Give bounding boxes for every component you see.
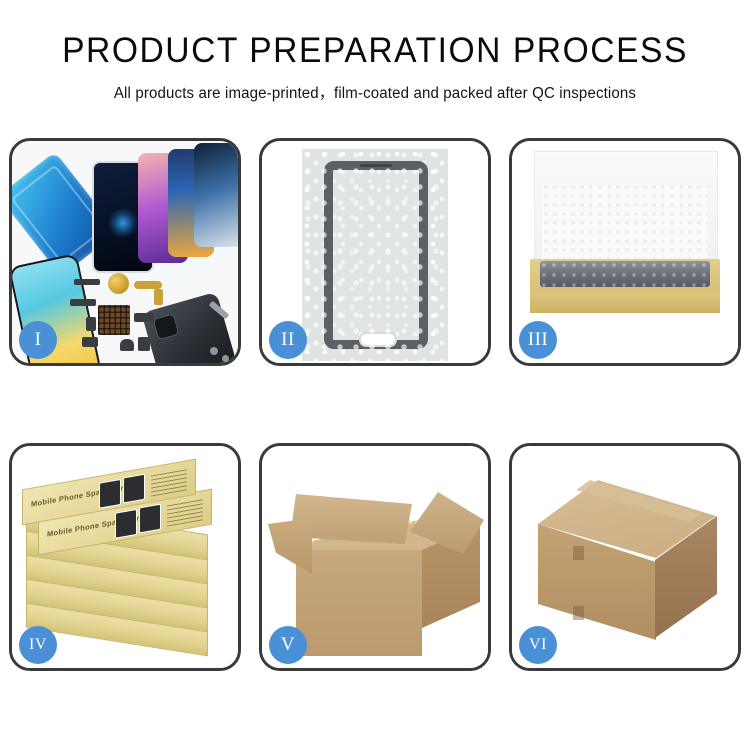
process-step-panel-2[interactable]: II <box>259 138 491 366</box>
step-badge-4: IV <box>19 626 57 664</box>
process-step-panel-1[interactable]: I <box>9 138 241 366</box>
process-step-panel-5[interactable]: V <box>259 443 491 671</box>
foam-liner-icon <box>542 183 708 261</box>
screw-icon-a <box>210 347 218 355</box>
small-part-icon-a <box>86 317 96 331</box>
packed-screen-icon <box>540 261 710 287</box>
lid-phone-image-1a <box>99 479 121 509</box>
process-step-panel-6[interactable]: VI <box>509 443 741 671</box>
process-step-panel-3[interactable]: III <box>509 138 741 366</box>
lid-spec-lines-1 <box>151 468 187 496</box>
flex-cable-icon-b <box>154 289 163 305</box>
page-header: PRODUCT PREPARATION PROCESS All products… <box>0 0 750 103</box>
page-title: PRODUCT PREPARATION PROCESS <box>15 33 735 68</box>
lid-phone-image-1b <box>123 474 145 504</box>
lid-spec-lines-2 <box>167 498 203 526</box>
lid-phone-image-2b <box>139 504 161 534</box>
coil-part-icon <box>108 273 129 294</box>
step-badge-1: I <box>19 321 57 359</box>
flex-cable-icon-a <box>134 281 162 289</box>
silver-phone-icon <box>194 143 238 247</box>
mailer-front-panel-icon <box>530 291 720 313</box>
flex-cable-icon-c <box>70 299 96 306</box>
step-badge-2: II <box>269 321 307 359</box>
lid-phone-image-2a <box>115 509 137 539</box>
carton-left-flap <box>268 518 312 574</box>
bubble-wrap-overlay <box>302 149 448 361</box>
screw-icon-b <box>222 355 229 362</box>
page-subtitle: All products are image-printed，film-coat… <box>11 81 739 103</box>
small-part-icon-c <box>120 339 134 351</box>
logic-board-part-icon <box>98 305 130 335</box>
step-badge-5: V <box>269 626 307 664</box>
step-badge-3: III <box>519 321 557 359</box>
speaker-part-icon <box>74 279 100 285</box>
small-part-icon-d <box>138 337 150 351</box>
step-badge-6: VI <box>519 626 557 664</box>
carton-front-face <box>296 550 422 656</box>
carton-seam-top <box>573 546 584 560</box>
process-step-panel-4[interactable]: Mobile Phone Spare Parts Mobile Phone Sp… <box>9 443 241 671</box>
process-step-grid: I II III <box>9 138 741 671</box>
carton-seam-bottom <box>573 606 584 620</box>
camera-module-icon <box>152 313 179 340</box>
small-part-icon-e <box>134 313 154 322</box>
small-part-icon-b <box>82 337 98 347</box>
